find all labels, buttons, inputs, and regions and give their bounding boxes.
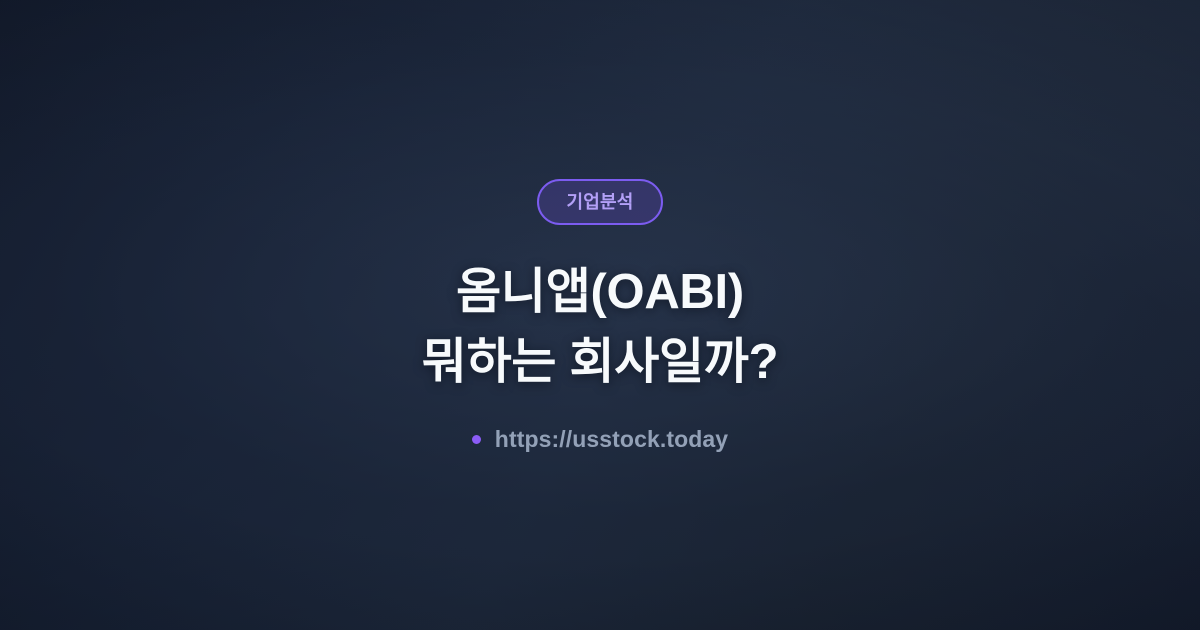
page-title: 옴니앱(OABI) 뭐하는 회사일까? bbox=[422, 258, 778, 397]
dot-icon bbox=[472, 435, 481, 444]
og-share-card: 기업분석 옴니앱(OABI) 뭐하는 회사일까? https://usstock… bbox=[0, 0, 1200, 630]
card-content: 기업분석 옴니앱(OABI) 뭐하는 회사일까? https://usstock… bbox=[0, 0, 1200, 630]
page-title-line-2: 뭐하는 회사일까? bbox=[422, 328, 778, 398]
page-title-line-1: 옴니앱(OABI) bbox=[422, 258, 778, 328]
site-url-text: https://usstock.today bbox=[495, 428, 728, 451]
category-badge: 기업분석 bbox=[537, 179, 662, 225]
site-url-row: https://usstock.today bbox=[472, 428, 728, 451]
